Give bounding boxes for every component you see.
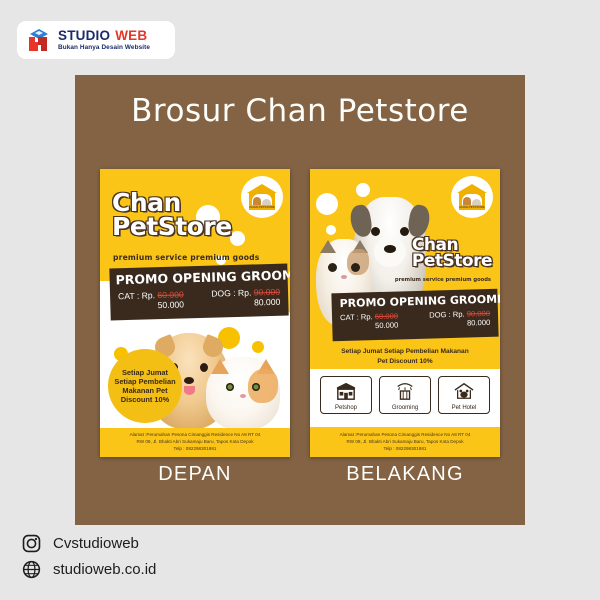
- sw-cube-icon: [25, 26, 53, 54]
- service-grooming[interactable]: Grooming: [379, 376, 431, 414]
- caption-depan: DEPAN: [100, 463, 290, 486]
- globe-icon: [22, 560, 41, 579]
- badge-plate-text: CHAN PETSTORE: [249, 205, 275, 210]
- price-cat-new: 50.000: [118, 299, 184, 311]
- address-line-1: Alamat :Perumahan Pesona Cimanggis Resid…: [130, 432, 261, 437]
- friday-line-1: Setiap Jumat Setiap Pembelian Makanan: [341, 348, 469, 355]
- brochure-board: Brosur Chan Petstore CHAN PETSTORE: [75, 75, 525, 525]
- promo-banner-back: PROMO OPENING GROOMING CAT : Rp. 60.000 …: [331, 289, 498, 342]
- logo-word-web: WEB: [115, 29, 147, 43]
- price-cat-label: CAT : Rp.: [118, 290, 155, 301]
- service-petshop[interactable]: Petshop: [320, 376, 372, 414]
- service-label: Grooming: [392, 405, 418, 411]
- flyer-front-address: Alamat :Perumahan Pesona Cimanggis Resid…: [100, 428, 290, 457]
- dog-house-badge-icon: CHAN PETSTORE: [241, 176, 283, 218]
- price-dog-label: DOG : Rp.: [211, 288, 251, 299]
- friday-discount-burst: Setiap Jumat Setiap Pembelian Makanan Pe…: [108, 349, 182, 423]
- flyer-front-tagline: premium service premium goods: [113, 253, 260, 262]
- phone-number: Telp : 082298301981: [106, 446, 284, 453]
- pet-hotel-house-icon: [452, 377, 476, 405]
- price-dog: DOG : Rp. 90.000 80.000: [211, 287, 280, 309]
- address-line-2: RW 08, Jl. Bhakti Abri Sukamaju Baru, Ta…: [136, 439, 253, 444]
- studioweb-logo-text: STUDIO WEB Bukan Hanya Desain Website: [58, 29, 150, 51]
- promo-banner-front: PROMO OPENING GROOMING CAT : Rp. 60.000 …: [109, 264, 288, 321]
- price-cat: CAT : Rp. 60.000 50.000: [340, 311, 398, 331]
- contact-website[interactable]: studioweb.co.id: [22, 556, 156, 582]
- flyer-back[interactable]: CHAN PETSTORE Chan PetStore premium serv…: [310, 169, 500, 457]
- price-cat-new: 50.000: [340, 320, 398, 331]
- price-dog-label: DOG : Rp.: [429, 310, 465, 320]
- shop-building-icon: [334, 377, 358, 405]
- flyer-front-brand: Chan PetStore: [112, 191, 232, 239]
- instagram-handle: Cvstudioweb: [53, 535, 139, 552]
- service-label: Petshop: [335, 405, 357, 411]
- page-title: Brosur Chan Petstore: [75, 93, 525, 129]
- contact-instagram[interactable]: Cvstudioweb: [22, 530, 156, 556]
- price-cat-label: CAT : Rp.: [340, 312, 373, 322]
- price-dog: DOG : Rp. 90.000 80.000: [429, 309, 490, 329]
- address-line-1: Alamat :Perumahan Pesona Cimanggis Resid…: [340, 432, 471, 437]
- address-line-2: RW 08, Jl. Bhakti Abri Sukamaju Baru, Ta…: [346, 439, 463, 444]
- logo-tagline: Bukan Hanya Desain Website: [58, 45, 150, 51]
- logo-word-studio: STUDIO: [58, 29, 110, 43]
- service-pet-hotel[interactable]: Pet Hotel: [438, 376, 490, 414]
- flyer-front[interactable]: CHAN PETSTORE Chan PetStore premium serv…: [100, 169, 290, 457]
- decor-dot: [230, 231, 245, 246]
- flyer-pair: CHAN PETSTORE Chan PetStore premium serv…: [100, 169, 500, 457]
- price-dog-new: 80.000: [429, 318, 490, 329]
- dog-house-badge-icon: CHAN PETSTORE: [451, 176, 493, 218]
- caption-belakang: BELAKANG: [310, 463, 500, 486]
- price-cat: CAT : Rp. 60.000 50.000: [118, 289, 184, 311]
- grooming-shower-icon: [393, 377, 417, 405]
- decor-dot: [356, 183, 370, 197]
- website-handle: studioweb.co.id: [53, 561, 156, 578]
- phone-number: Telp : 082298301981: [316, 446, 494, 453]
- flyer-captions: DEPAN BELAKANG: [100, 463, 500, 486]
- brand-line-2: PetStore: [112, 215, 232, 239]
- instagram-icon: [22, 534, 41, 553]
- flyer-back-brand: Chan PetStore: [412, 237, 492, 269]
- friday-line-2: Pet Discount 10%: [377, 358, 432, 365]
- service-label: Pet Hotel: [452, 405, 477, 411]
- flyer-back-address: Alamat :Perumahan Pesona Cimanggis Resid…: [310, 428, 500, 457]
- studioweb-logo-badge: STUDIO WEB Bukan Hanya Desain Website: [17, 21, 175, 59]
- friday-discount-note: Setiap Jumat Setiap Pembelian Makanan Pe…: [310, 347, 500, 367]
- brand-line-2: PetStore: [412, 253, 492, 269]
- cat-illustration: [206, 357, 280, 429]
- price-dog-new: 80.000: [211, 297, 280, 309]
- badge-plate-text: CHAN PETSTORE: [459, 205, 485, 210]
- services-list: Petshop Grooming: [320, 376, 490, 414]
- flyer-back-tagline: premium service premium goods: [395, 277, 491, 283]
- footer-contacts: Cvstudioweb studioweb.co.id: [22, 530, 156, 582]
